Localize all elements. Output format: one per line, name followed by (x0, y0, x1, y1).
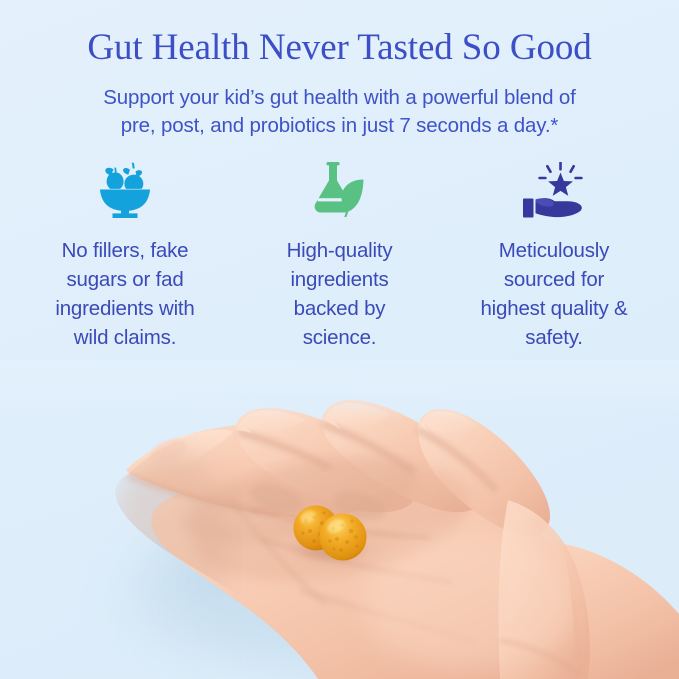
promo-banner: Gut Health Never Tasted So Good Support … (0, 0, 679, 679)
feature-text: High-quality ingredients backed by scien… (257, 236, 422, 352)
content-panel: Gut Health Never Tasted So Good Support … (0, 0, 679, 392)
feature-text: Meticulously sourced for highest quality… (464, 236, 644, 352)
hand-star-icon (522, 160, 586, 218)
feature-list: No fillers, fake sugars or fad ingredien… (18, 160, 661, 352)
subtitle-line-1: Support your kid’s gut health with a pow… (103, 86, 575, 109)
subtitle: Support your kid’s gut health with a pow… (45, 84, 635, 140)
feature-text: No fillers, fake sugars or fad ingredien… (30, 236, 220, 352)
page-title: Gut Health Never Tasted So Good (18, 27, 661, 68)
flask-leaf-icon (311, 160, 369, 218)
feature-item-meticulously-sourced: Meticulously sourced for highest quality… (447, 160, 661, 352)
feature-item-high-quality: High-quality ingredients backed by scien… (233, 160, 447, 352)
fruit-bowl-icon (94, 160, 156, 218)
subtitle-line-2: pre, post, and probiotics in just 7 seco… (121, 114, 559, 137)
feature-item-no-fillers: No fillers, fake sugars or fad ingredien… (18, 160, 232, 352)
